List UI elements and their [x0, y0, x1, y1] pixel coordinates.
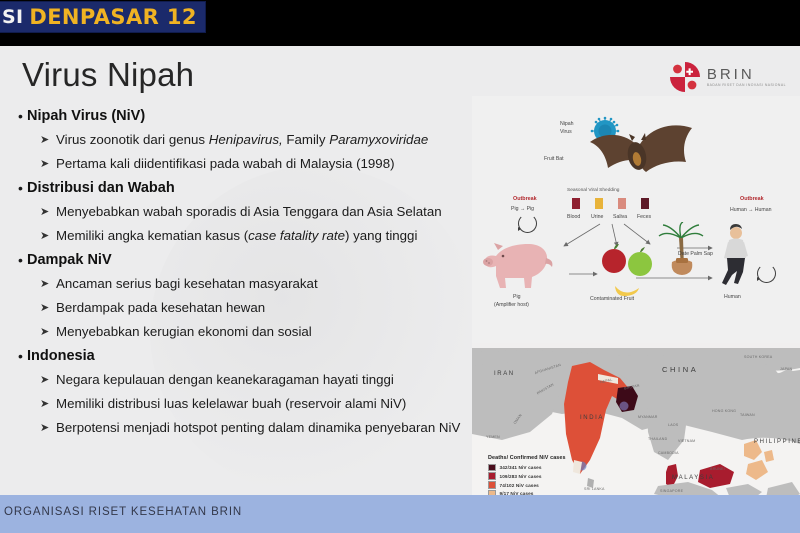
map-label-taiwan: TAIWAN	[740, 413, 755, 417]
map-label-myanmar: MYANMAR	[638, 415, 658, 419]
legend-swatch	[488, 481, 496, 489]
fruit-label: Contaminated Fruit	[590, 296, 634, 302]
brin-tagline: BADAN RISET DAN INOVASI NASIONAL	[707, 84, 786, 87]
bullet-subpoint: ➤Memiliki angka kematian kasus (case fat…	[40, 226, 464, 246]
bullet-heading-text: Nipah Virus (NiV)	[27, 106, 145, 127]
saliva-droplet-icon	[618, 198, 626, 209]
map-label-srilanka: SRI LANKA	[584, 487, 605, 491]
bullet-subpoint-text: Memiliki angka kematian kasus (case fata…	[56, 226, 417, 246]
map-legend-item: 342/341 NiV cases	[488, 464, 566, 472]
bullet-heading: •Distribusi dan Wabah	[14, 178, 464, 199]
bullet-subpoint-text: Menyebabkan kerugian ekonomi dan sosial	[56, 322, 312, 342]
map-label-vietnam: VIETNAM	[678, 439, 695, 443]
virus-label-line2: Virus	[560, 129, 572, 135]
virus-label-line1: Nipah	[560, 121, 574, 127]
map-label-india: INDIA	[580, 415, 604, 421]
bullet-heading: •Dampak NiV	[14, 250, 464, 271]
bullet-subpoint: ➤Ancaman serius bagi kesehatan masyaraka…	[40, 274, 464, 294]
arrow-bullet-icon: ➤	[40, 322, 56, 342]
outbreak-human-title: Outbreak	[740, 196, 764, 202]
arrow-bullet-icon: ➤	[40, 274, 56, 294]
broadcast-banner: SI DENPASAR 12	[0, 2, 205, 32]
bullet-subpoint-text: Berdampak pada kesehatan hewan	[56, 298, 265, 318]
bullet-heading-text: Indonesia	[27, 346, 95, 367]
legend-label: 109/283 NiV cases	[500, 474, 542, 479]
page-title: Virus Nipah	[22, 56, 194, 94]
bullet-subpoint: ➤Memiliki distribusi luas kelelawar buah…	[40, 394, 464, 414]
bullet-subpoint: ➤Menyebabkan wabah sporadis di Asia Teng…	[40, 202, 464, 222]
bullet-subpoint: ➤Menyebabkan kerugian ekonomi dan sosial	[40, 322, 464, 342]
outbreak-pig-sub: Pig → Pig	[511, 206, 534, 212]
map-legend-item: 109/283 NiV cases	[488, 472, 566, 480]
map-label-thailand: THAILAND	[648, 437, 667, 441]
legend-label: 342/341 NiV cases	[500, 465, 542, 470]
fruit-bat-label: Fruit Bat	[544, 156, 564, 162]
broadcast-topbar: SI DENPASAR 12	[0, 0, 800, 46]
brin-logo: BRIN BADAN RISET DAN INOVASI NASIONAL	[668, 60, 786, 94]
outbreak-pig-title: Outbreak	[513, 196, 537, 202]
blood-droplet-icon	[572, 198, 580, 209]
arrow-bullet-icon: ➤	[40, 202, 56, 222]
bullet-subpoint: ➤Berpotensi menjadi hotspot penting dala…	[40, 418, 464, 438]
slide-bullet-content: •Nipah Virus (NiV)➤Virus zoonotik dari g…	[14, 106, 464, 442]
pig-label: Pig	[513, 294, 521, 300]
fluid-label-blood: Blood	[567, 214, 580, 220]
fluid-label-feces: Feces	[637, 214, 651, 220]
map-label-philippines: PHILIPPINES	[754, 439, 800, 445]
bullet-heading: •Nipah Virus (NiV)	[14, 106, 464, 127]
broadcast-title: DENPASAR 12	[29, 5, 197, 29]
map-label-malaysia: MALAYSIA	[672, 475, 714, 481]
arrow-bullet-icon: ➤	[40, 298, 56, 318]
legend-swatch	[488, 464, 496, 472]
map-label-laos: LAOS	[668, 423, 678, 427]
bullet-subpoint-text: Pertama kali diidentifikasi pada wabah d…	[56, 154, 395, 174]
bullet-subpoint: ➤Negara kepulauan dengan keanekaragaman …	[40, 370, 464, 390]
pig-sublabel: (Amplifier host)	[494, 302, 529, 308]
bullet-dot-icon: •	[14, 178, 27, 199]
map-label-yemen: YEMEN	[486, 435, 500, 439]
bullet-heading: •Indonesia	[14, 346, 464, 367]
legend-label: 74/102 NiV cases	[500, 483, 539, 488]
bullet-dot-icon: •	[14, 346, 27, 367]
bullet-subpoint-text: Menyebabkan wabah sporadis di Asia Tengg…	[56, 202, 442, 222]
brin-name: BRIN	[707, 67, 786, 82]
arrow-bullet-icon: ➤	[40, 418, 56, 438]
map-label-southkorea: SOUTH KOREA	[744, 355, 772, 359]
pig-cycle-arrow-icon	[518, 214, 537, 233]
map-label-singapore: SINGAPORE	[660, 489, 683, 493]
map-label-iran: IRAN	[494, 371, 515, 377]
map-label-brunei: BRUNEI	[710, 467, 725, 471]
map-label-cambodia: CAMBODIA	[658, 451, 679, 455]
bullet-dot-icon: •	[14, 250, 27, 271]
pig-icon	[478, 236, 563, 291]
map-legend-title: Deaths/ Confirmed NiV cases	[488, 455, 566, 461]
arrow-bullet-icon: ➤	[40, 226, 56, 246]
nipah-transmission-diagram: Nipah Virus Fruit Bat Seasonal Viral She…	[472, 96, 800, 343]
brin-emblem-icon	[668, 60, 702, 94]
footer-text: ORGANISASI RISET KESEHATAN BRIN	[4, 506, 242, 518]
broadcast-prefix: SI	[2, 6, 23, 28]
map-label-hongkong: HONG KONG	[712, 409, 736, 413]
fluid-label-saliva: Saliva	[613, 214, 627, 220]
presentation-slide: Virus Nipah BRIN BADAN RISET DAN INOVASI…	[0, 46, 800, 533]
bullet-dot-icon: •	[14, 106, 27, 127]
fluid-label-urine: Urine	[591, 214, 603, 220]
fruit-bat-icon	[580, 116, 700, 186]
arrow-bullet-icon: ➤	[40, 130, 56, 150]
date-palm-sap-label: Date Palm Sap	[678, 251, 713, 257]
human-icon	[716, 224, 756, 286]
bullet-subpoint: ➤Virus zoonotik dari genus Henipavirus, …	[40, 130, 464, 150]
bullet-heading-text: Distribusi dan Wabah	[27, 178, 175, 199]
feces-droplet-icon	[641, 198, 649, 209]
legend-swatch	[488, 472, 496, 480]
map-label-china: CHINA	[662, 365, 698, 374]
shedding-label: Seasonal Viral Shedding	[567, 188, 619, 193]
urine-droplet-icon	[595, 198, 603, 209]
outbreak-human-sub: Human → Human	[730, 207, 772, 213]
human-cycle-arrow-icon	[757, 264, 776, 283]
bullet-subpoint-text: Negara kepulauan dengan keanekaragaman h…	[56, 370, 394, 390]
bullet-heading-text: Dampak NiV	[27, 250, 112, 271]
brin-wordmark: BRIN BADAN RISET DAN INOVASI NASIONAL	[707, 67, 786, 87]
bullet-subpoint-text: Berpotensi menjadi hotspot penting dalam…	[56, 418, 460, 438]
bullet-subpoint: ➤Berdampak pada kesehatan hewan	[40, 298, 464, 318]
arrow-bullet-icon: ➤	[40, 370, 56, 390]
map-legend-item: 74/102 NiV cases	[488, 481, 566, 489]
map-label-japan: JAPAN	[780, 367, 792, 371]
bullet-subpoint-text: Virus zoonotik dari genus Henipavirus, F…	[56, 130, 428, 150]
slide-footer: ORGANISASI RISET KESEHATAN BRIN	[0, 495, 800, 533]
arrow-bullet-icon: ➤	[40, 154, 56, 174]
arrow-bullet-icon: ➤	[40, 394, 56, 414]
screenshot-root: SI DENPASAR 12 Virus Nipah BRIN BADAN RI…	[0, 0, 800, 533]
bullet-subpoint: ➤Pertama kali diidentifikasi pada wabah …	[40, 154, 464, 174]
bullet-subpoint-text: Ancaman serius bagi kesehatan masyarakat	[56, 274, 318, 294]
bullet-subpoint-text: Memiliki distribusi luas kelelawar buah …	[56, 394, 406, 414]
human-label: Human	[724, 294, 741, 300]
